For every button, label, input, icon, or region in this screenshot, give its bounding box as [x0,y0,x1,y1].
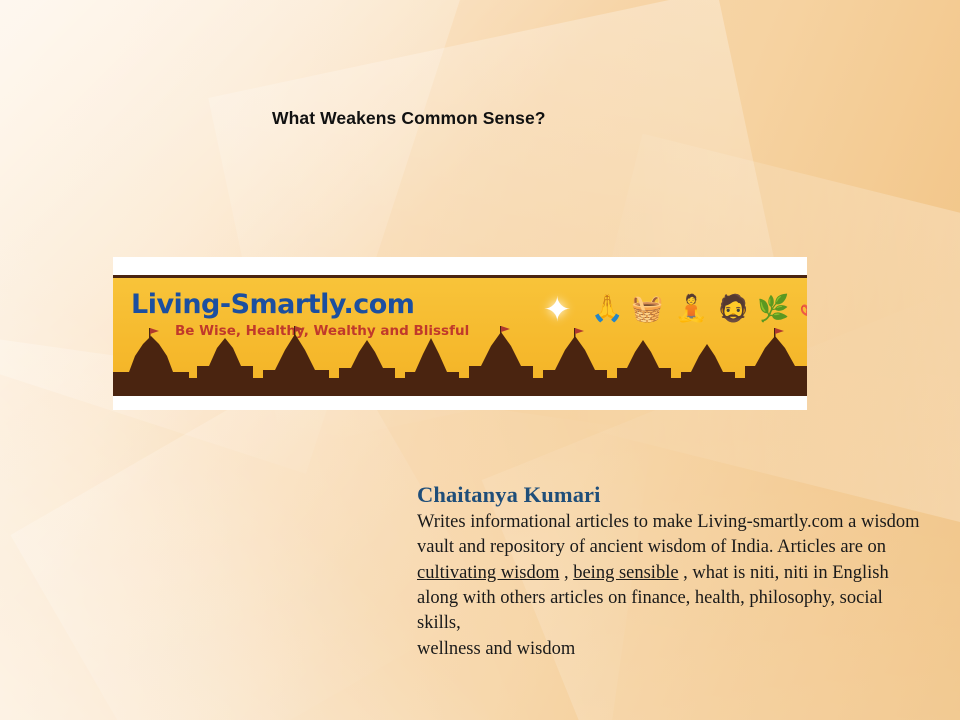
banner-top-strip [113,275,807,278]
being-sensible-link[interactable]: being sensible [573,563,678,583]
meditation-icon: 🧘 [675,295,707,321]
slide-title: What Weakens Common Sense? [272,108,546,129]
sage-icon: 🧔 [717,295,749,321]
banner-bottom-strip [113,386,807,396]
cultivating-wisdom-link[interactable]: cultivating wisdom [417,563,559,583]
vegetable-basket-icon: 🧺 [631,295,663,321]
author-name: Chaitanya Kumari [417,482,927,508]
slide: What Weakens Common Sense? Living-Smartl… [0,0,960,720]
praying-hands-icon: 🙏 [591,295,623,321]
banner-image: Living-Smartly.com Be Wise, Healthy, Wea… [113,257,807,410]
temple-skyline-silhouette [113,326,807,388]
site-logo-text: Living-Smartly.com [131,289,414,320]
sparkle-icon: ✦ [543,293,572,327]
herbs-basket-icon: 🌿 [757,295,789,321]
oil-lamp-icon: 🫖 [799,295,807,321]
author-block: Chaitanya Kumari Writes informational ar… [417,482,927,662]
author-separator: , [559,563,573,583]
author-text-before: Writes informational articles to make Li… [417,512,920,557]
author-last-line: wellness and wisdom [417,637,927,662]
author-description: Writes informational articles to make Li… [417,510,927,662]
banner-graphic: Living-Smartly.com Be Wise, Healthy, Wea… [113,275,807,396]
